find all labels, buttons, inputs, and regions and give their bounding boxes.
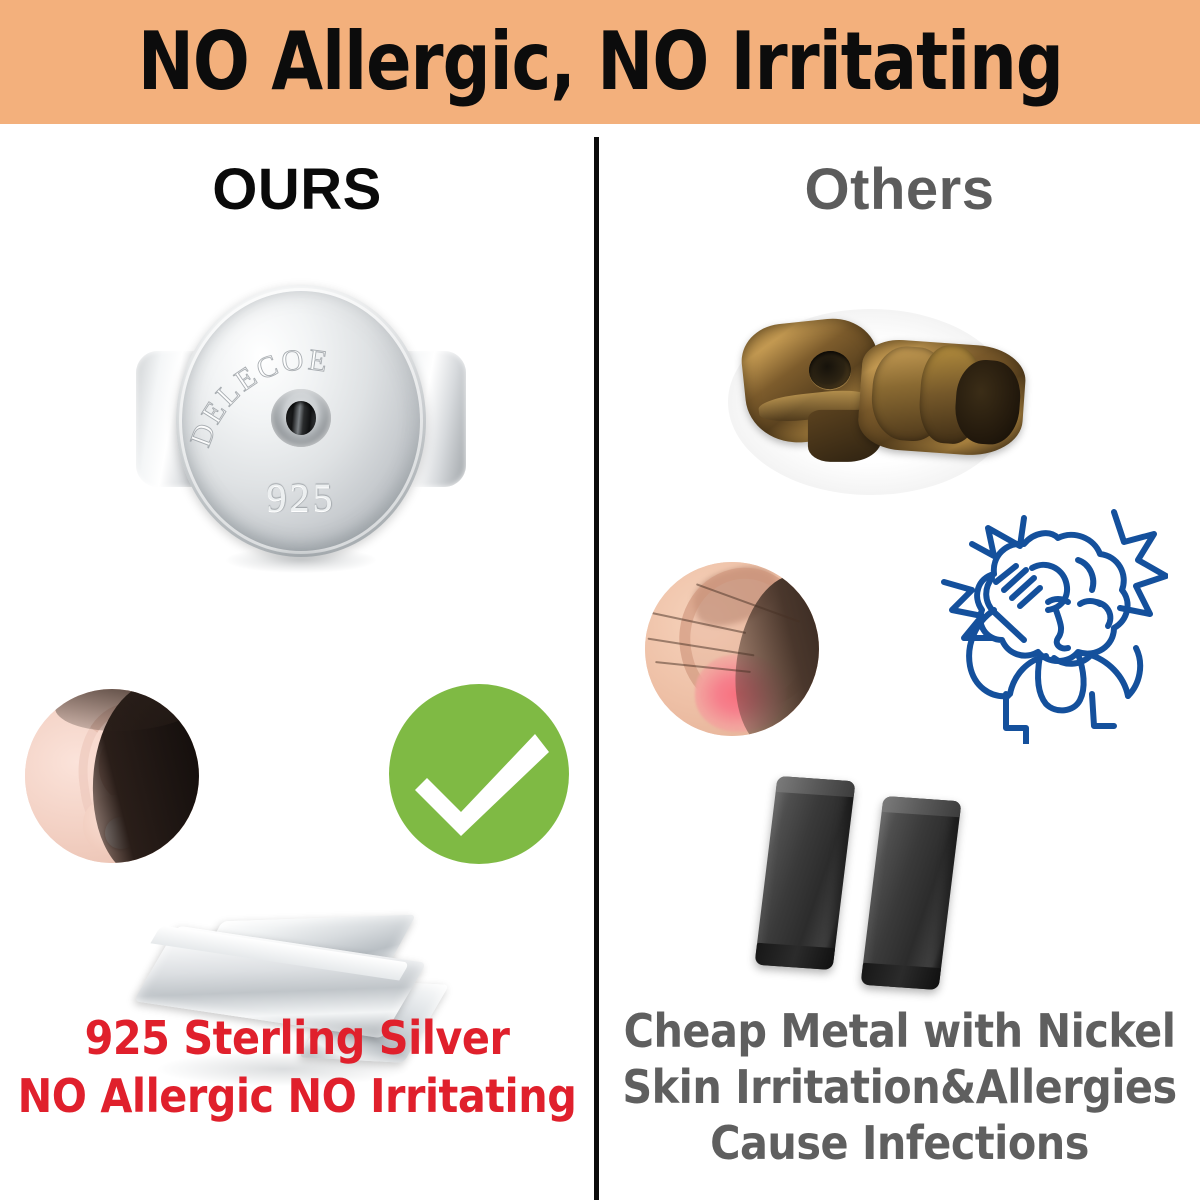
banner-title: NO Allergic, NO Irritating xyxy=(137,22,1062,102)
brass-back-right xyxy=(856,337,1027,458)
column-ours: OURS DELECOE 925 xyxy=(0,124,594,1200)
brass-back-right-opening xyxy=(953,358,1023,446)
others-caption-line-2: Skin Irritation&Allergies xyxy=(599,1059,1200,1115)
others-caption-line-3: Cause Infections xyxy=(599,1115,1200,1171)
nickel-bar-left-bottom xyxy=(754,943,835,970)
brass-earring-backs-image xyxy=(712,295,1032,510)
column-heading-ours: OURS xyxy=(0,160,594,220)
nickel-bar-right xyxy=(860,796,961,990)
nickel-bar-right-top xyxy=(882,796,962,817)
nickel-bar-left-top xyxy=(776,776,856,797)
irritated-ear-photo xyxy=(645,562,819,736)
earring-screw-thread xyxy=(286,401,316,435)
ours-captions: 925 Sterling Silver NO Allergic NO Irrit… xyxy=(0,1009,594,1125)
nickel-bar-left xyxy=(754,776,855,970)
earring-disc: DELECOE 925 xyxy=(176,285,426,557)
ours-caption-line-2: NO Allergic NO Irritating xyxy=(0,1067,594,1125)
nickel-bar-right-bottom xyxy=(860,963,941,990)
earring-drop-shadow xyxy=(226,547,376,573)
pain-figure-icon xyxy=(928,498,1168,744)
green-check-icon xyxy=(389,684,569,864)
purity-engraving-text: 925 xyxy=(176,474,426,521)
brass-back-left-hole xyxy=(807,349,853,391)
column-heading-others: Others xyxy=(599,160,1200,220)
header-banner: NO Allergic, NO Irritating xyxy=(0,0,1200,124)
nickel-bars-image xyxy=(756,772,978,994)
comparison-infographic: NO Allergic, NO Irritating OURS DELECOE … xyxy=(0,0,1200,1200)
silver-earring-back-image: DELECOE 925 xyxy=(130,279,470,569)
healthy-ear-photo xyxy=(25,689,199,863)
others-caption-line-1: Cheap Metal with Nickel xyxy=(599,1003,1200,1059)
others-captions: Cheap Metal with Nickel Skin Irritation&… xyxy=(599,1003,1200,1171)
earring-screw-hole xyxy=(271,389,331,447)
ours-caption-line-1: 925 Sterling Silver xyxy=(0,1009,594,1067)
